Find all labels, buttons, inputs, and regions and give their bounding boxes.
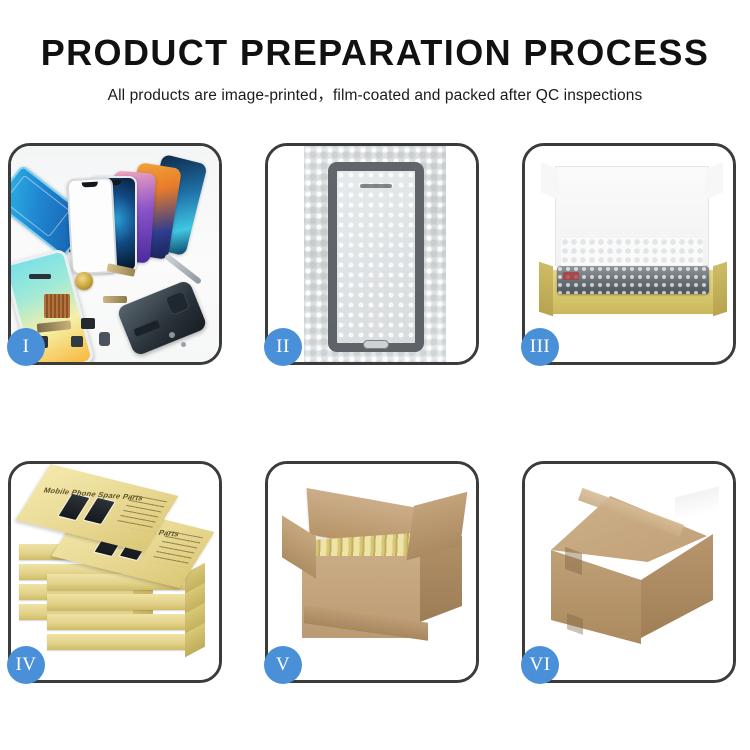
step-badge-4: IV	[7, 646, 45, 684]
module-part-icon	[81, 318, 95, 329]
page-subtitle: All products are image-printed，film-coat…	[0, 72, 750, 105]
process-step-panel-6[interactable]: VI	[522, 461, 736, 683]
carton-backdrop-icon	[675, 487, 719, 522]
chip-grid-part-icon	[44, 294, 70, 318]
step-badge-5: V	[264, 646, 302, 684]
process-step-panel-4[interactable]: Mobile Phone Spare Parts Mobile Phone Sp…	[8, 461, 222, 683]
camera-part-icon	[99, 332, 110, 346]
phone-notch-icon	[82, 182, 98, 188]
process-step-grid: I II III	[8, 143, 742, 683]
screw-part-icon	[169, 332, 175, 338]
panel-3-image	[525, 146, 733, 362]
panel-2-image	[268, 146, 476, 362]
process-step-panel-3[interactable]: III	[522, 143, 736, 365]
wrapped-screen-in-box-icon	[557, 266, 709, 294]
process-step-panel-5[interactable]: V	[265, 461, 479, 683]
step-badge-3: III	[521, 328, 559, 366]
speaker-bar-part-icon	[29, 274, 51, 279]
step-badge-2: II	[264, 328, 302, 366]
box-stack: Mobile Phone Spare Parts Mobile Phone Sp…	[11, 464, 219, 680]
panel-1-image	[11, 146, 219, 362]
panel-5-image	[268, 464, 476, 680]
stacked-box-edge	[47, 634, 189, 650]
page-title: PRODUCT PREPARATION PROCESS	[0, 0, 750, 72]
panel-6-image	[525, 464, 733, 680]
step-badge-6: VI	[521, 646, 559, 684]
coil-part-icon	[75, 272, 93, 290]
step-badge-1: I	[7, 328, 45, 366]
phone-fan-5-icon	[67, 177, 118, 275]
earpiece-slot-icon	[360, 184, 392, 188]
stacked-box-edge	[47, 614, 189, 630]
flex-cable-part-icon	[103, 296, 127, 303]
process-step-panel-1[interactable]: I	[8, 143, 222, 365]
wrapped-screen-icon	[328, 162, 424, 352]
module-part-icon	[71, 336, 83, 347]
process-step-panel-2[interactable]: II	[265, 143, 479, 365]
header: PRODUCT PREPARATION PROCESS All products…	[0, 0, 750, 105]
panel-4-image: Mobile Phone Spare Parts Mobile Phone Sp…	[11, 464, 219, 680]
stacked-box-edge	[47, 594, 189, 610]
screw-part-icon	[181, 342, 186, 347]
box-label-text: Mobile Phone Spare Parts	[42, 487, 144, 502]
